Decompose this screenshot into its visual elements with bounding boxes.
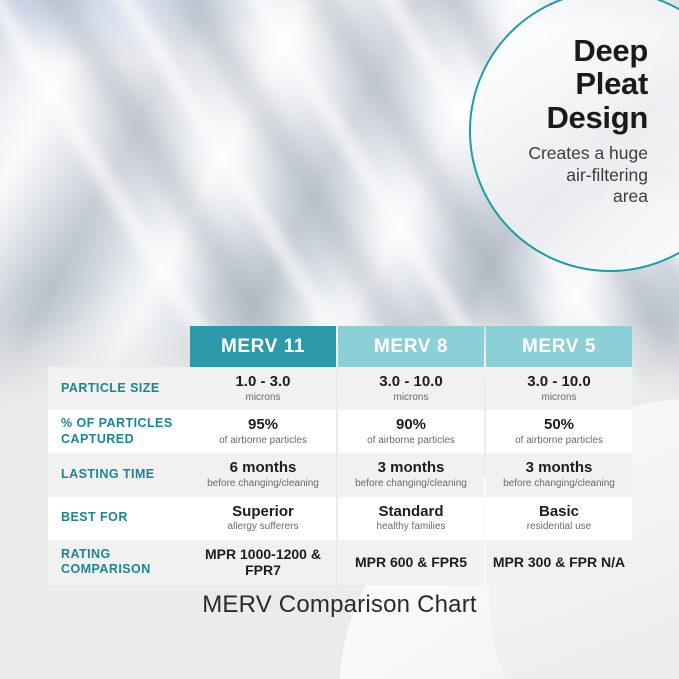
cell-best-for-merv-11: Superior allergy sufferers [190,497,336,540]
row-label-lasting-time: LASTING TIME [48,453,190,496]
cell-lasting-time-merv-8: 3 months before changing/cleaning [338,453,484,496]
cell-particles-captured-merv-11: 95% of airborne particles [190,410,336,453]
cell-particle-size-merv-5: 3.0 - 10.0 microns [486,367,632,410]
cell-rating-comparison-merv-11: MPR 1000-1200 & FPR7 [190,540,336,585]
cell-value: 3.0 - 10.0 [379,373,442,391]
cell-subvalue: before changing/cleaning [503,478,615,491]
cell-subvalue: microns [393,392,428,405]
cell-subvalue: of airborne particles [367,435,455,448]
cell-lasting-time-merv-5: 3 months before changing/cleaning [486,453,632,496]
cell-value: 3.0 - 10.0 [527,373,590,391]
cell-value: Standard [378,503,443,521]
chart-caption: MERV Comparison Chart [0,591,679,619]
table-row-rating-comparison: RATING COMPARISON MPR 1000-1200 & FPR7 M… [48,540,632,585]
cell-particles-captured-merv-5: 50% of airborne particles [486,410,632,453]
cell-particles-captured-merv-8: 90% of airborne particles [338,410,484,453]
badge-subtitle-line-3: area [520,186,648,207]
column-header-merv-5: MERV 5 [486,326,632,367]
cell-subvalue: microns [541,392,576,405]
table-header-row: MERV 11 MERV 8 MERV 5 [48,326,632,367]
cell-subvalue: of airborne particles [515,435,603,448]
cell-subvalue: before changing/cleaning [355,478,467,491]
cell-lasting-time-merv-11: 6 months before changing/cleaning [190,453,336,496]
cell-particle-size-merv-11: 1.0 - 3.0 microns [190,367,336,410]
badge-subtitle-line-1: Creates a huge [520,143,648,164]
table-row-particle-size: PARTICLE SIZE 1.0 - 3.0 microns 3.0 - 10… [48,367,632,410]
cell-value: MPR 1000-1200 & FPR7 [194,546,332,579]
cell-value: Basic [539,503,579,521]
row-label-particle-size: PARTICLE SIZE [48,367,190,410]
cell-value: 1.0 - 3.0 [235,373,290,391]
table-row-lasting-time: LASTING TIME 6 months before changing/cl… [48,453,632,496]
table-row-particles-captured: % OF PARTICLES CAPTURED 95% of airborne … [48,410,632,453]
cell-subvalue: healthy families [377,521,446,534]
product-infographic: Deep Pleat Design Creates a huge air-fil… [0,0,679,679]
cell-value: 90% [396,416,426,434]
cell-value: MPR 600 & FPR5 [355,554,467,571]
column-header-merv-11: MERV 11 [190,326,336,367]
table-row-best-for: BEST FOR Superior allergy sufferers Stan… [48,497,632,540]
header-corner-spacer [48,326,190,367]
cell-value: 95% [248,416,278,434]
row-label-best-for: BEST FOR [48,497,190,540]
cell-rating-comparison-merv-8: MPR 600 & FPR5 [338,540,484,585]
merv-comparison-table: MERV 11 MERV 8 MERV 5 PARTICLE SIZE 1.0 … [48,326,632,585]
cell-value: 50% [544,416,574,434]
cell-value: Superior [232,503,294,521]
cell-value: MPR 300 & FPR N/A [493,554,625,571]
cell-particle-size-merv-8: 3.0 - 10.0 microns [338,367,484,410]
cell-subvalue: before changing/cleaning [207,478,319,491]
cell-value: 6 months [230,459,297,477]
badge-title-line-1: Deep [520,34,648,67]
badge-title: Deep Pleat Design [520,34,648,134]
cell-subvalue: microns [245,392,280,405]
cell-subvalue: allergy sufferers [228,521,299,534]
badge-title-line-2: Pleat [520,67,648,100]
cell-best-for-merv-5: Basic residential use [486,497,632,540]
cell-value: 3 months [526,459,593,477]
cell-best-for-merv-8: Standard healthy families [338,497,484,540]
deep-pleat-badge-text: Deep Pleat Design Creates a huge air-fil… [520,34,648,207]
badge-title-line-3: Design [520,101,648,134]
badge-subtitle: Creates a huge air-filtering area [520,143,648,207]
column-header-merv-8: MERV 8 [338,326,484,367]
cell-subvalue: of airborne particles [219,435,307,448]
cell-subvalue: residential use [527,521,591,534]
row-label-particles-captured: % OF PARTICLES CAPTURED [48,410,190,453]
cell-rating-comparison-merv-5: MPR 300 & FPR N/A [486,540,632,585]
row-label-rating-comparison: RATING COMPARISON [48,540,190,585]
badge-subtitle-line-2: air-filtering [520,165,648,186]
cell-value: 3 months [378,459,445,477]
